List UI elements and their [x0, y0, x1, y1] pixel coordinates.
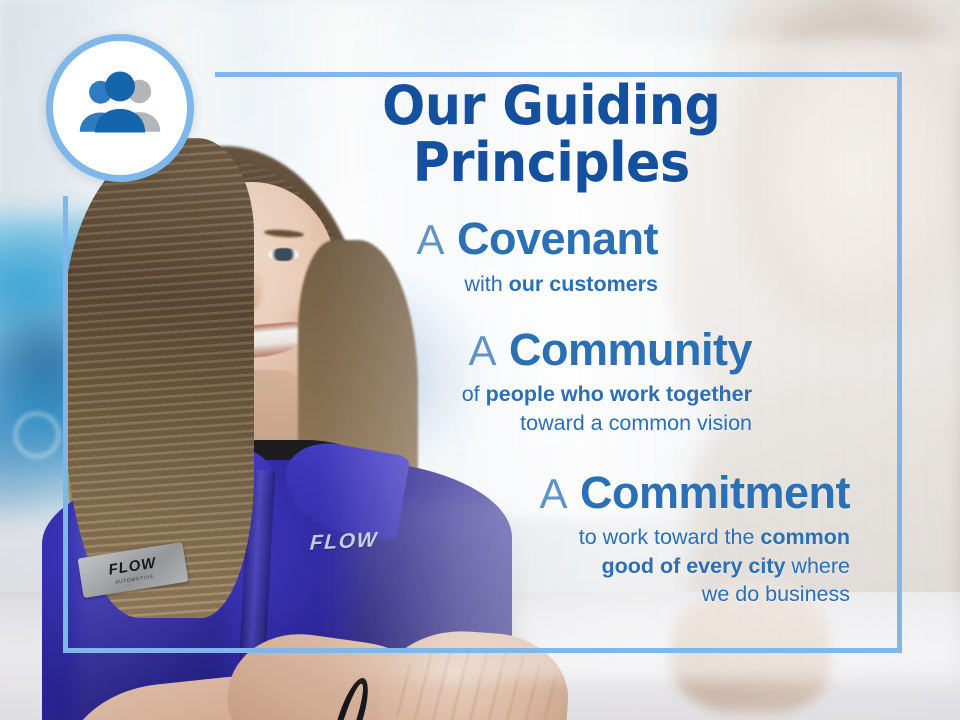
covenant-sub-pre: with: [464, 272, 508, 296]
covenant-sub-bold: our customers: [509, 272, 658, 296]
community-sub-bold: people who work together: [486, 382, 752, 406]
principle-covenant: A Covenant with our customers: [200, 215, 880, 298]
principle-community-subtext: of people who work together toward a com…: [200, 380, 752, 437]
principle-commitment-heading: A Commitment: [200, 469, 850, 516]
group-people-icon: [74, 62, 166, 154]
principle-community-heading: A Community: [200, 326, 752, 373]
principle-community-word: Community: [509, 324, 752, 375]
principle-community: A Community of people who work together …: [200, 326, 880, 437]
community-sub-line2: toward a common vision: [520, 411, 752, 435]
principle-commitment-article: A: [539, 470, 567, 517]
commitment-sub-bold1: common: [760, 525, 850, 549]
group-people-badge: Three people group icon: [46, 34, 194, 182]
community-sub-pre: of: [462, 382, 486, 406]
page-title: Our Guiding Principles: [220, 78, 859, 191]
principle-community-article: A: [468, 327, 496, 374]
principle-covenant-subtext: with our customers: [200, 270, 658, 298]
principle-covenant-heading: A Covenant: [200, 215, 658, 262]
principle-commitment-subtext: to work toward the common good of every …: [200, 523, 850, 608]
principle-commitment: A Commitment to work toward the common g…: [200, 469, 880, 608]
principle-covenant-word: Covenant: [457, 213, 658, 264]
principles-content: Our Guiding Principles A Covenant with o…: [200, 78, 880, 608]
commitment-sub-pre: to work toward the: [579, 525, 761, 549]
commitment-sub-line3: we do business: [702, 582, 850, 606]
commitment-sub-post: where: [785, 554, 850, 578]
principle-commitment-word: Commitment: [580, 467, 850, 518]
commitment-sub-bold2: good of every city: [601, 554, 785, 578]
guiding-principles-banner: FLOW FLOW AUTOMOTIVE Three people group …: [0, 0, 960, 720]
principle-covenant-article: A: [416, 216, 444, 263]
